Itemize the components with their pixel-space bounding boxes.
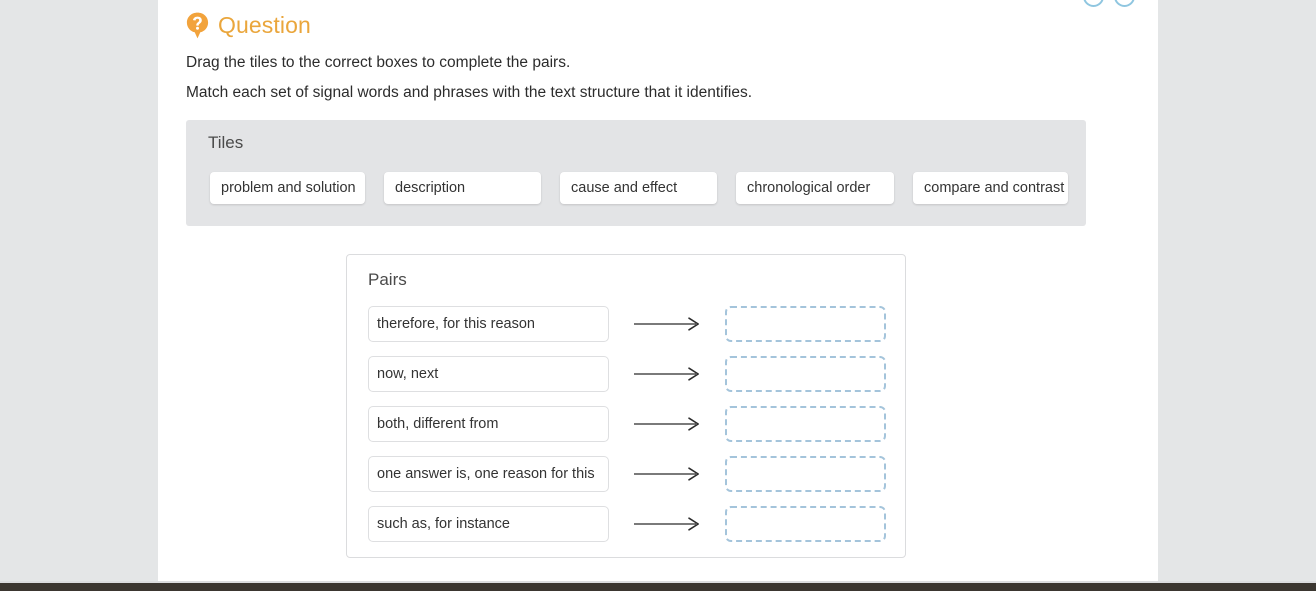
pair-row: now, next bbox=[368, 349, 905, 399]
tiles-label: Tiles bbox=[208, 134, 243, 151]
pair-source-label: one answer is, one reason for this bbox=[377, 466, 595, 482]
page-root: Question Drag the tiles to the correct b… bbox=[0, 0, 1316, 591]
bottom-bar bbox=[0, 583, 1316, 591]
dropzone-3[interactable] bbox=[725, 406, 886, 442]
dropzone-2[interactable] bbox=[725, 356, 886, 392]
arrow-right-icon bbox=[609, 514, 725, 534]
tile-label: problem and solution bbox=[221, 180, 356, 196]
dropzone-5[interactable] bbox=[725, 506, 886, 542]
tile-label: cause and effect bbox=[571, 180, 677, 196]
pairs-panel: Pairs therefore, for this reason now, ne… bbox=[346, 254, 906, 558]
pair-source-now-next: now, next bbox=[368, 356, 609, 392]
arrow-right-icon bbox=[609, 364, 725, 384]
instruction-line-1: Drag the tiles to the correct boxes to c… bbox=[186, 53, 570, 73]
pairs-label: Pairs bbox=[368, 271, 407, 288]
tile-description[interactable]: description bbox=[384, 172, 541, 204]
pair-row: therefore, for this reason bbox=[368, 299, 905, 349]
arrow-right-icon bbox=[609, 314, 725, 334]
tiles-list: problem and solution description cause a… bbox=[210, 172, 1068, 204]
tile-chronological-order[interactable]: chronological order bbox=[736, 172, 894, 204]
instruction-line-2: Match each set of signal words and phras… bbox=[186, 83, 752, 103]
pair-source-one-answer-is-one-reason-for-this: one answer is, one reason for this bbox=[368, 456, 609, 492]
pair-row: one answer is, one reason for this bbox=[368, 449, 905, 499]
tiles-panel: Tiles problem and solution description c… bbox=[186, 120, 1086, 226]
circle-control-1[interactable] bbox=[1083, 0, 1104, 7]
pair-source-label: such as, for instance bbox=[377, 516, 510, 532]
corner-controls bbox=[1083, 0, 1135, 7]
tile-label: description bbox=[395, 180, 465, 196]
tile-problem-and-solution[interactable]: problem and solution bbox=[210, 172, 365, 204]
tile-label: chronological order bbox=[747, 180, 870, 196]
pair-row: such as, for instance bbox=[368, 499, 905, 549]
pairs-list: therefore, for this reason now, next bbox=[368, 299, 905, 549]
pair-source-label: both, different from bbox=[377, 416, 498, 432]
pair-row: both, different from bbox=[368, 399, 905, 449]
pair-source-label: now, next bbox=[377, 366, 438, 382]
arrow-right-icon bbox=[609, 464, 725, 484]
pair-source-label: therefore, for this reason bbox=[377, 316, 535, 332]
pair-source-such-as-for-instance: such as, for instance bbox=[368, 506, 609, 542]
tile-label: compare and contrast bbox=[924, 180, 1064, 196]
pair-source-both-different-from: both, different from bbox=[368, 406, 609, 442]
dropzone-1[interactable] bbox=[725, 306, 886, 342]
arrow-right-icon bbox=[609, 414, 725, 434]
tile-cause-and-effect[interactable]: cause and effect bbox=[560, 172, 717, 204]
pair-source-therefore-for-this-reason: therefore, for this reason bbox=[368, 306, 609, 342]
dropzone-4[interactable] bbox=[725, 456, 886, 492]
page-title: Question bbox=[218, 14, 311, 37]
tile-compare-and-contrast[interactable]: compare and contrast bbox=[913, 172, 1068, 204]
question-content-panel: Question Drag the tiles to the correct b… bbox=[158, 0, 1158, 581]
circle-control-2[interactable] bbox=[1114, 0, 1135, 7]
question-mark-badge-icon bbox=[186, 12, 209, 39]
question-header: Question bbox=[186, 12, 311, 39]
